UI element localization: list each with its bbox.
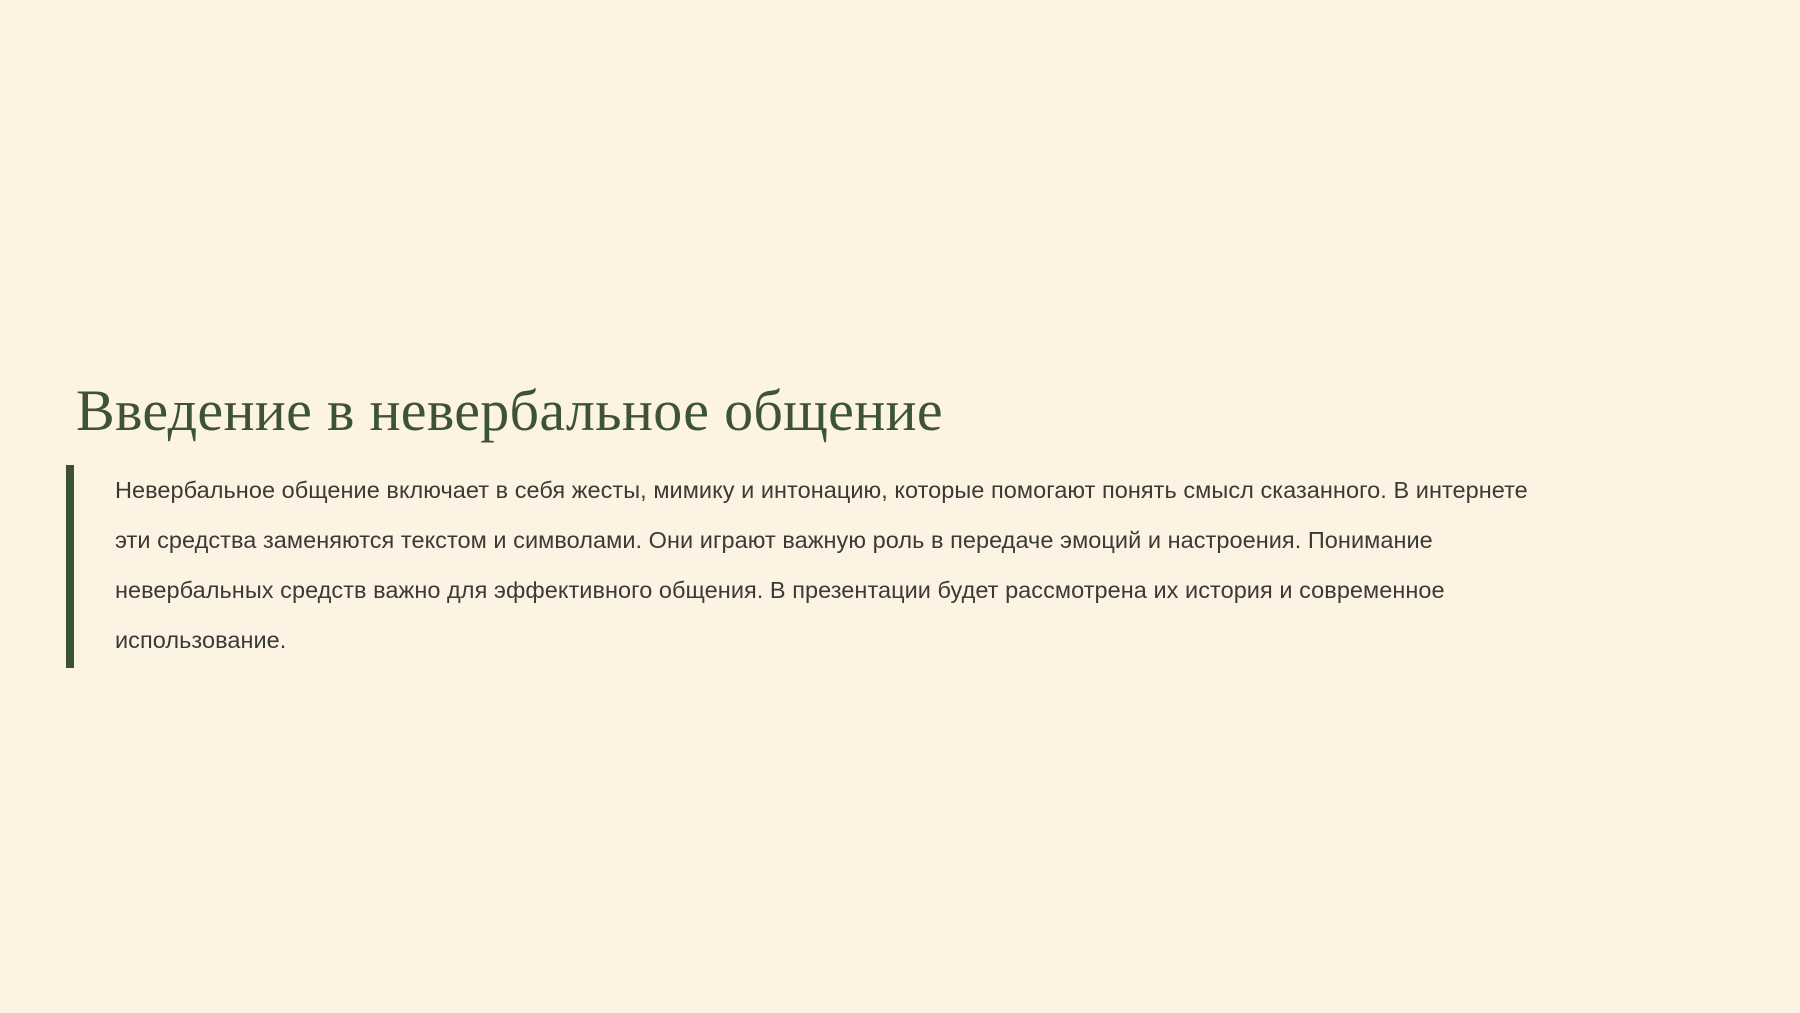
page-title: Введение в невербальное общение <box>76 377 1676 445</box>
slide-root: Введение в невербальное общение Невербал… <box>0 0 1800 1013</box>
body-quote-block: Невербальное общение включает в себя жес… <box>66 465 1706 668</box>
body-paragraph-container: Невербальное общение включает в себя жес… <box>115 465 1535 668</box>
accent-bar <box>66 465 74 668</box>
body-paragraph: Невербальное общение включает в себя жес… <box>115 465 1535 665</box>
